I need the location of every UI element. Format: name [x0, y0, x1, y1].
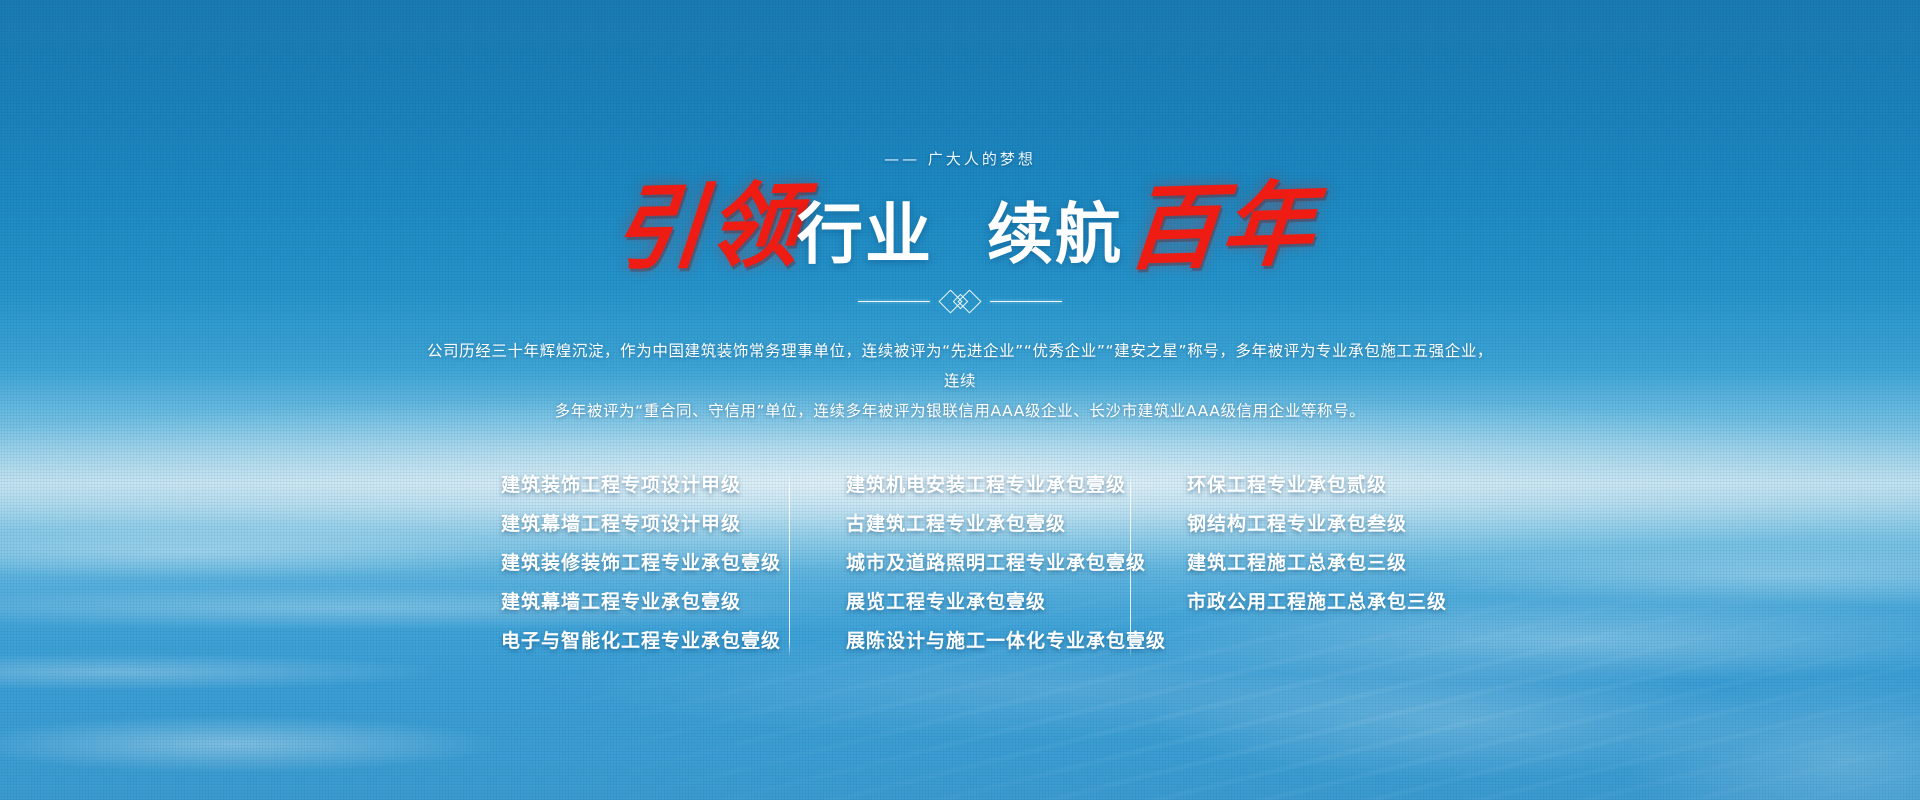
headline-red-century: 百年	[1123, 178, 1320, 275]
hero-paragraph-line-1: 公司历经三十年辉煌沉淀，作为中国建筑装饰常务理事单位，连续被评为“先进企业”“优…	[420, 336, 1500, 396]
divider-line-right	[990, 301, 1062, 302]
headline-red-lead: 引领	[609, 179, 805, 275]
hero-banner: —— 广大人的梦想 引领 行业 续航 百年 公司历经三十年辉煌沉淀，作为中国建筑…	[0, 0, 1920, 800]
headline-white-industry: 行业	[797, 202, 933, 268]
hero-paragraph: 公司历经三十年辉煌沉淀，作为中国建筑装饰常务理事单位，连续被评为“先进企业”“优…	[420, 336, 1500, 426]
hero-headline: 引领 行业 续航 百年	[609, 183, 1311, 275]
hero-content: —— 广大人的梦想 引领 行业 续航 百年 公司历经三十年辉煌沉淀，作为中国建筑…	[0, 0, 1920, 800]
hero-tagline: —— 广大人的梦想	[884, 148, 1036, 169]
divider-diamonds	[942, 293, 978, 310]
divider-line-left	[858, 301, 930, 302]
headline-white-endurance: 续航	[987, 202, 1123, 268]
hero-paragraph-line-2: 多年被评为“重合同、守信用”单位，连续多年被评为银联信用AAA级企业、长沙市建筑…	[420, 396, 1500, 426]
diamond-divider-icon	[858, 293, 1062, 310]
diamond-icon-3	[957, 289, 981, 313]
